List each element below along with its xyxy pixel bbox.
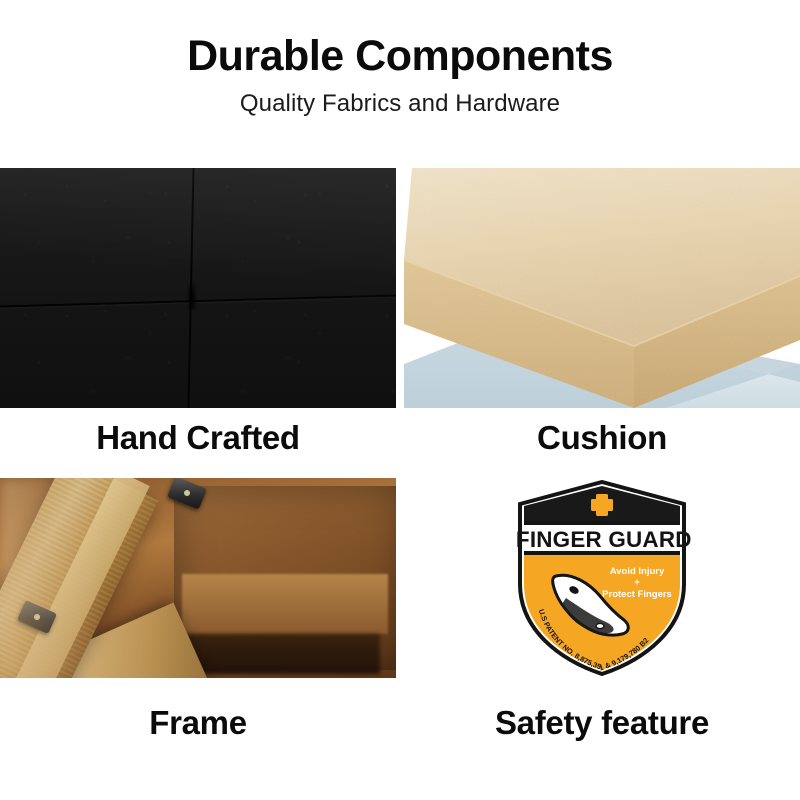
badge-tagline-line2: Protect Fingers [602, 589, 672, 600]
feature-caption-hand-crafted: Hand Crafted [0, 408, 396, 468]
page-title: Durable Components [0, 34, 800, 79]
depth-of-field-blur [0, 478, 103, 678]
badge-wordmark: FINGER GUARD [516, 527, 692, 552]
fabric-sheen [0, 168, 396, 408]
header: Durable Components Quality Fabrics and H… [0, 0, 800, 118]
feature-caption-cushion: Cushion [404, 408, 800, 468]
safety-badge-image: FINGER GUARD Avoid Injury + Protect Fing… [404, 478, 800, 678]
cushion-image [404, 168, 800, 408]
page-subtitle: Quality Fabrics and Hardware [0, 90, 800, 118]
hand-crafted-image [0, 168, 396, 408]
wood-shadow-gap [182, 634, 380, 674]
wood-back-rail [182, 574, 388, 634]
feature-cell-cushion: Cushion [404, 168, 800, 468]
feature-cell-safety-feature: FINGER GUARD Avoid Injury + Protect Fing… [404, 478, 800, 778]
frame-image [0, 478, 396, 678]
infographic-page: Durable Components Quality Fabrics and H… [0, 0, 800, 800]
badge-tagline-line1: Avoid Injury [610, 566, 665, 577]
feature-grid: Hand Crafted [0, 168, 800, 800]
feature-caption-frame: Frame [0, 678, 396, 778]
badge-tagline-separator: + [634, 577, 640, 588]
feature-cell-hand-crafted: Hand Crafted [0, 168, 396, 468]
cushion-illustration [404, 168, 800, 408]
feature-caption-safety-feature: Safety feature [404, 678, 800, 778]
finger-guard-badge: FINGER GUARD Avoid Injury + Protect Fing… [512, 480, 692, 676]
screw-head-icon [183, 489, 191, 497]
badge-divider-top [512, 521, 692, 525]
feature-cell-frame: Frame [0, 478, 396, 778]
